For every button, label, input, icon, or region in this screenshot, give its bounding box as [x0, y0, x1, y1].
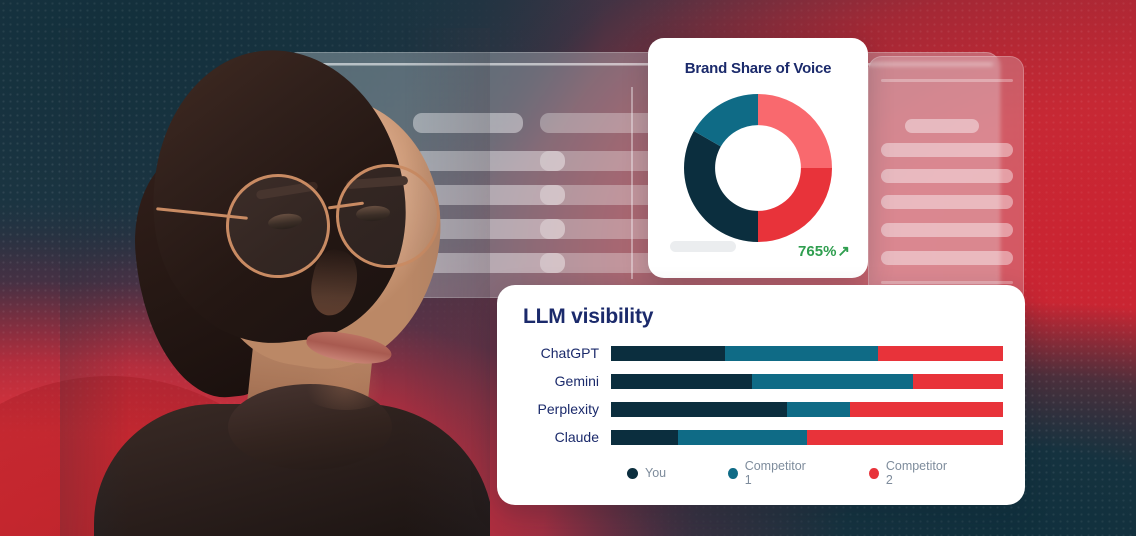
bar-row: ChatGPT: [519, 343, 1003, 363]
skeleton-bar: [540, 151, 658, 171]
skeleton-bar: [540, 253, 658, 273]
bar-segment: [678, 430, 807, 445]
portrait-edge-fade: [60, 28, 490, 536]
skeleton-bar: [881, 251, 1013, 265]
donut-chart-svg: [684, 94, 832, 242]
skeleton-bar: [540, 113, 658, 133]
dashboard-side-panel-skeleton: [868, 56, 1024, 306]
legend-color-dot: [627, 468, 638, 479]
hero-banner: Brand Share of Voice 765% ↗ LLM visibili…: [0, 0, 1136, 536]
trend-up-arrow-icon: ↗: [837, 244, 850, 259]
legend-label: Competitor 2: [886, 459, 949, 487]
bar-track: [611, 430, 1003, 445]
donut-chart: [684, 94, 832, 242]
llm-visibility-card: LLM visibility ChatGPTGeminiPerplexityCl…: [497, 285, 1025, 505]
legend-color-dot: [869, 468, 879, 479]
person-portrait-photo: [60, 28, 490, 536]
bar-segment: [787, 402, 850, 417]
bar-segment: [850, 402, 1003, 417]
bar-segment: [725, 346, 878, 361]
legend-label: Competitor 1: [745, 459, 808, 487]
bar-segment: [807, 430, 1003, 445]
bar-row: Claude: [519, 427, 1003, 447]
legend-item: Competitor 1: [728, 459, 807, 487]
skeleton-bar: [881, 281, 1013, 284]
donut-segment: [684, 131, 758, 242]
bar-row: Perplexity: [519, 399, 1003, 419]
legend-label: You: [645, 466, 666, 480]
bar-track: [611, 402, 1003, 417]
legend-color-dot: [728, 468, 738, 479]
donut-segment: [758, 94, 832, 168]
stacked-bar-chart: ChatGPTGeminiPerplexityClaude: [519, 343, 1003, 455]
bar-track: [611, 346, 1003, 361]
status-badge: 765% ↗: [798, 243, 850, 260]
skeleton-bar: [881, 143, 1013, 157]
bar-segment: [913, 374, 1003, 389]
donut-segment: [758, 168, 832, 242]
legend-item: You: [627, 466, 666, 480]
bar-row-label: Perplexity: [519, 401, 611, 417]
skeleton-bar: [540, 219, 658, 239]
bar-row-label: Claude: [519, 429, 611, 445]
bar-row: Gemini: [519, 371, 1003, 391]
skeleton-bar: [905, 119, 979, 133]
bar-segment: [611, 430, 678, 445]
skeleton-bar: [540, 185, 658, 205]
chart-legend: YouCompetitor 1Competitor 2: [523, 459, 1007, 487]
loading-pill-placeholder: [670, 241, 736, 252]
delta-value: 765%: [798, 243, 836, 260]
bar-segment: [878, 346, 1003, 361]
skeleton-bar: [881, 79, 1013, 82]
bar-segment: [611, 346, 725, 361]
bar-segment: [611, 402, 787, 417]
bar-segment: [611, 374, 752, 389]
skeleton-bar: [881, 195, 1013, 209]
llm-visibility-title: LLM visibility: [523, 305, 653, 329]
brand-share-of-voice-card: Brand Share of Voice 765% ↗: [648, 38, 868, 278]
legend-item: Competitor 2: [869, 459, 948, 487]
skeleton-bar: [881, 169, 1013, 183]
bar-segment: [752, 374, 913, 389]
bar-row-label: Gemini: [519, 373, 611, 389]
bar-track: [611, 374, 1003, 389]
skeleton-bar: [881, 223, 1013, 237]
bar-row-label: ChatGPT: [519, 345, 611, 361]
page-title: Brand Share of Voice: [648, 60, 868, 77]
